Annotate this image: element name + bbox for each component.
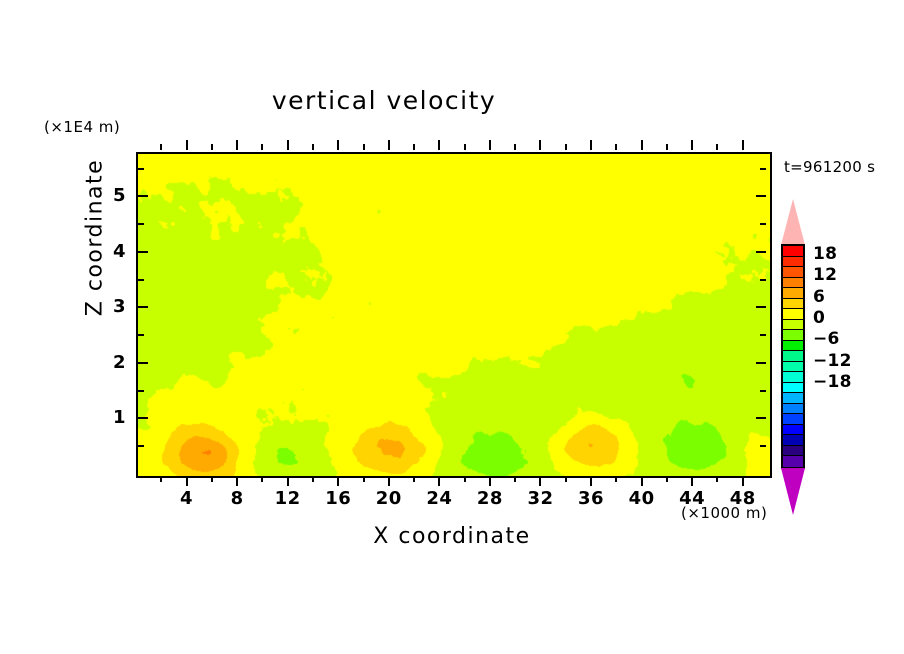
colorbar-cap-bottom-icon: [781, 468, 805, 515]
colorbar-tick-label: 12: [813, 265, 837, 285]
x-tick-label: 16: [314, 488, 362, 509]
x-tick-label: 44: [668, 488, 716, 509]
x-tick-label: 48: [719, 488, 767, 509]
x-tick-label: 8: [213, 488, 261, 509]
x-tick-bottom: [514, 476, 516, 482]
x-tick-bottom: [716, 476, 718, 482]
x-tick-label: 12: [264, 488, 312, 509]
x-tick-bottom: [261, 476, 263, 482]
x-tick-top: [666, 144, 668, 150]
x-tick-top: [413, 144, 415, 150]
y-tick-right: [756, 251, 766, 253]
y-axis-unit-label: (×1E4 m): [44, 118, 120, 136]
x-tick-top: [236, 140, 238, 150]
y-tick-left: [138, 223, 144, 225]
colorbar-band: [783, 246, 803, 257]
x-axis-title: X coordinate: [136, 524, 768, 549]
colorbar-band: [783, 425, 803, 436]
y-tick-right: [756, 417, 766, 419]
y-tick-left: [138, 362, 148, 364]
x-tick-bottom: [438, 476, 440, 486]
x-tick-label: 28: [466, 488, 514, 509]
x-tick-bottom: [464, 476, 466, 482]
y-tick-left: [138, 251, 148, 253]
x-tick-bottom: [388, 476, 390, 486]
x-tick-bottom: [211, 476, 213, 482]
colorbar-band: [783, 362, 803, 373]
colorbar-band: [783, 288, 803, 299]
x-tick-label: 36: [567, 488, 615, 509]
x-tick-top: [565, 144, 567, 150]
x-tick-top: [211, 144, 213, 150]
colorbar: [781, 199, 805, 515]
x-tick-bottom: [641, 476, 643, 486]
x-tick-bottom: [413, 476, 415, 482]
colorbar-bands: [781, 244, 805, 469]
colorbar-band: [783, 278, 803, 289]
page-title: vertical velocity: [0, 86, 768, 115]
colorbar-tick-label: −12: [813, 351, 852, 371]
colorbar-band: [783, 299, 803, 310]
colorbar-band: [783, 351, 803, 362]
x-tick-top: [438, 140, 440, 150]
colorbar-band: [783, 330, 803, 341]
x-tick-label: 24: [415, 488, 463, 509]
x-tick-top: [641, 140, 643, 150]
colorbar-band: [783, 414, 803, 425]
x-tick-label: 40: [618, 488, 666, 509]
y-tick-left: [138, 306, 148, 308]
velocity-field-raster: [138, 154, 770, 476]
x-tick-bottom: [565, 476, 567, 482]
x-tick-top: [363, 144, 365, 150]
x-tick-top: [287, 140, 289, 150]
y-tick-right: [760, 334, 766, 336]
colorbar-band: [783, 341, 803, 352]
x-tick-top: [388, 140, 390, 150]
colorbar-tick-label: 6: [813, 287, 825, 307]
x-tick-bottom: [160, 476, 162, 482]
y-tick-label: 4: [90, 241, 126, 262]
y-tick-label: 3: [90, 296, 126, 317]
colorbar-band: [783, 456, 803, 467]
colorbar-band: [783, 309, 803, 320]
y-tick-left: [138, 334, 144, 336]
y-tick-right: [756, 306, 766, 308]
x-tick-bottom: [186, 476, 188, 486]
colorbar-band: [783, 393, 803, 404]
y-tick-left: [138, 279, 144, 281]
y-tick-left: [138, 417, 148, 419]
colorbar-tick-label: −18: [813, 372, 852, 392]
x-tick-bottom: [590, 476, 592, 486]
colorbar-tick-label: 18: [813, 244, 837, 264]
contour-plot-area: [136, 152, 772, 478]
timestamp-annotation: t=961200 s: [784, 158, 875, 176]
x-tick-top: [539, 140, 541, 150]
figure-root: vertical velocity (×1E4 m) (×1000 m) X c…: [0, 0, 904, 654]
y-tick-left: [138, 390, 144, 392]
colorbar-tick-label: 0: [813, 308, 825, 328]
colorbar-cap-top-icon: [781, 199, 805, 245]
y-tick-left: [138, 445, 144, 447]
y-tick-label: 5: [90, 185, 126, 206]
y-tick-left: [138, 168, 144, 170]
colorbar-band: [783, 372, 803, 383]
x-tick-top: [716, 144, 718, 150]
colorbar-band: [783, 383, 803, 394]
y-tick-right: [760, 390, 766, 392]
x-tick-bottom: [489, 476, 491, 486]
x-tick-top: [312, 144, 314, 150]
x-tick-bottom: [666, 476, 668, 482]
colorbar-band: [783, 435, 803, 446]
x-tick-top: [615, 144, 617, 150]
x-tick-label: 4: [163, 488, 211, 509]
colorbar-band: [783, 404, 803, 415]
colorbar-band: [783, 320, 803, 331]
y-tick-right: [760, 445, 766, 447]
x-tick-top: [691, 140, 693, 150]
y-tick-right: [760, 223, 766, 225]
x-tick-bottom: [337, 476, 339, 486]
x-tick-top: [337, 140, 339, 150]
y-tick-right: [756, 195, 766, 197]
x-tick-top: [489, 140, 491, 150]
x-tick-top: [186, 140, 188, 150]
y-tick-right: [760, 279, 766, 281]
x-tick-top: [742, 140, 744, 150]
y-tick-label: 2: [90, 352, 126, 373]
x-tick-top: [590, 140, 592, 150]
x-tick-bottom: [539, 476, 541, 486]
x-tick-top: [261, 144, 263, 150]
x-tick-top: [514, 144, 516, 150]
x-tick-bottom: [363, 476, 365, 482]
x-tick-top: [160, 144, 162, 150]
x-tick-label: 20: [365, 488, 413, 509]
y-tick-label: 1: [90, 407, 126, 428]
x-tick-top: [464, 144, 466, 150]
x-tick-bottom: [236, 476, 238, 486]
y-tick-right: [760, 168, 766, 170]
x-tick-bottom: [691, 476, 693, 486]
x-tick-bottom: [287, 476, 289, 486]
colorbar-band: [783, 257, 803, 268]
x-tick-bottom: [742, 476, 744, 486]
colorbar-band: [783, 267, 803, 278]
colorbar-tick-label: −6: [813, 329, 840, 349]
x-tick-label: 32: [516, 488, 564, 509]
y-tick-left: [138, 195, 148, 197]
x-tick-bottom: [615, 476, 617, 482]
x-tick-bottom: [312, 476, 314, 482]
y-tick-right: [756, 362, 766, 364]
colorbar-band: [783, 446, 803, 457]
